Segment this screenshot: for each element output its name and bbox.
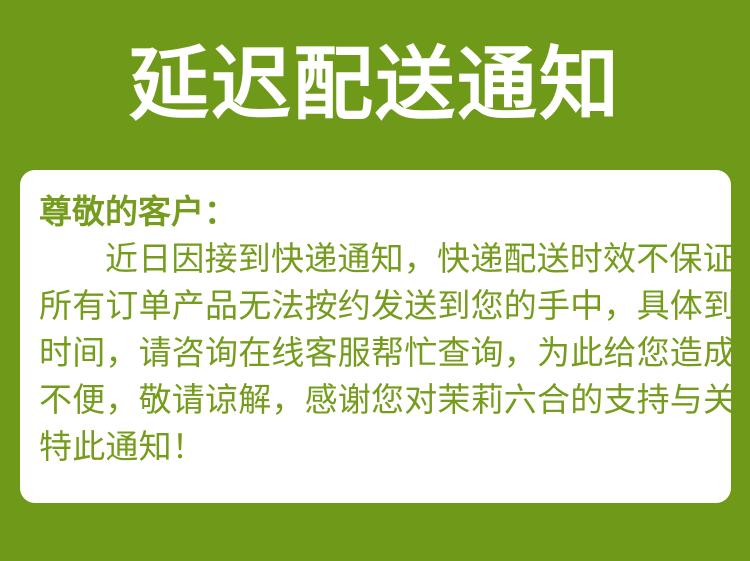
notice-banner: 延迟配送通知 — [0, 0, 750, 170]
greeting-line: 尊敬的客户： — [39, 188, 711, 235]
notice-body-line-5: 特此通知！ — [39, 423, 711, 470]
notice-card: 尊敬的客户： 近日因接到快递通知，快递配送时效不保证， 所有订单产品无法按约发送… — [20, 170, 731, 503]
notice-body-line-1: 近日因接到快递通知，快递配送时效不保证， — [39, 235, 711, 282]
notice-body-line-3: 时间，请咨询在线客服帮忙查询，为此给您造成的 — [39, 329, 711, 376]
notice-body-line-4: 不便，敬请谅解，感谢您对茉莉六合的支持与关注， — [39, 376, 711, 423]
delivery-delay-notice-page: 延迟配送通知 尊敬的客户： 近日因接到快递通知，快递配送时效不保证， 所有订单产… — [0, 0, 750, 561]
notice-body-line-2: 所有订单产品无法按约发送到您的手中，具体到货 — [39, 282, 711, 329]
page-title: 延迟配送通知 — [129, 45, 621, 125]
